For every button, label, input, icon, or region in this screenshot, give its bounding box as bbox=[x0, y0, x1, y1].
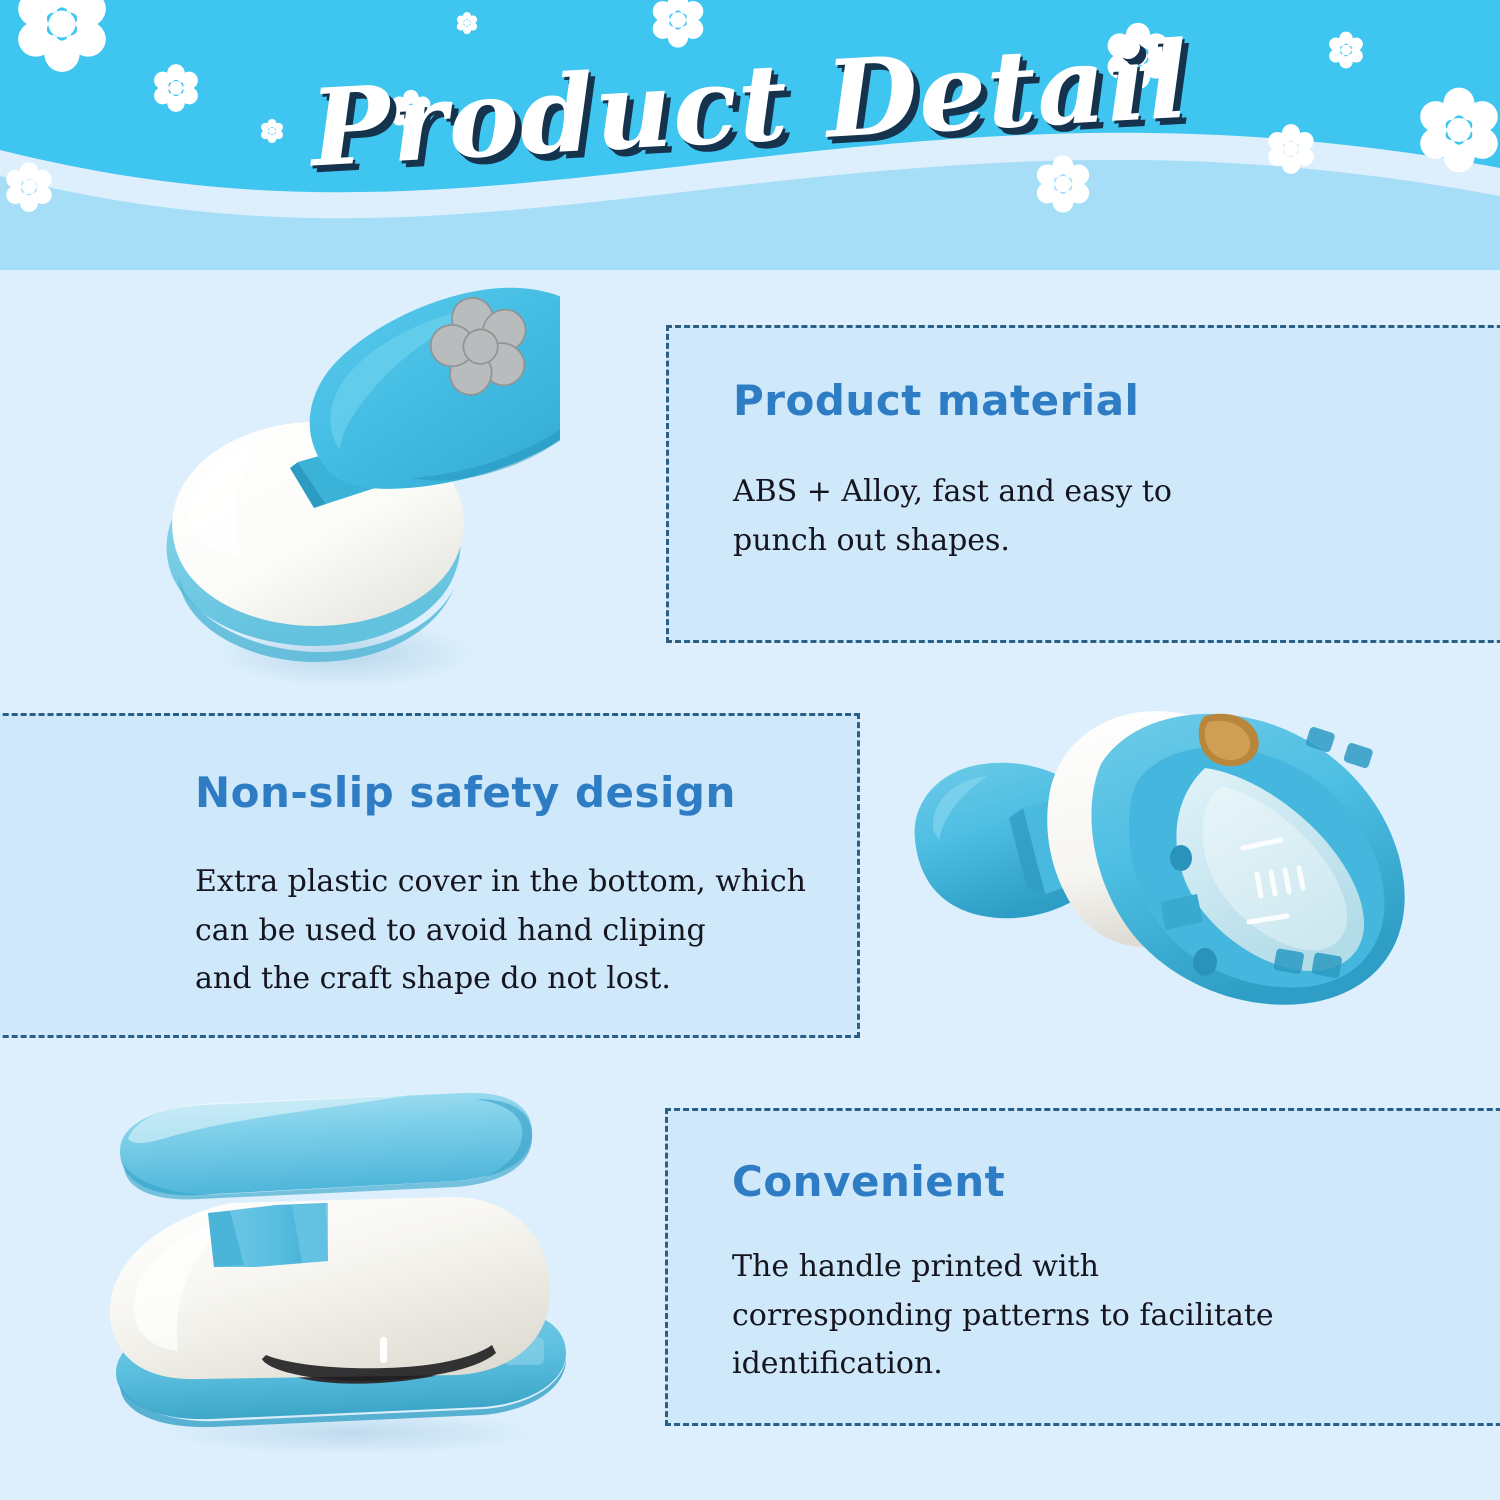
info-box-body: The handle printed with corresponding pa… bbox=[732, 1243, 1312, 1389]
info-box-convenient: Convenient The handle printed with corre… bbox=[665, 1108, 1500, 1426]
info-box-non-slip-safety-design: Non-slip safety design Extra plastic cov… bbox=[0, 713, 860, 1038]
info-box-product-material: Product material ABS + Alloy, fast and e… bbox=[666, 325, 1500, 643]
infographic-page: Product Detail bbox=[0, 0, 1500, 1500]
info-box-body: Extra plastic cover in the bottom, which… bbox=[195, 858, 815, 1004]
info-box-heading: Convenient bbox=[732, 1157, 1005, 1206]
product-photo-punch-side bbox=[80, 1055, 620, 1455]
product-photo-punch-underside bbox=[905, 690, 1425, 1020]
info-box-heading: Product material bbox=[733, 376, 1139, 425]
info-box-body: ABS + Alloy, fast and easy to punch out … bbox=[733, 468, 1293, 565]
product-photo-punch-angled-top bbox=[130, 222, 560, 702]
info-box-heading: Non-slip safety design bbox=[195, 768, 736, 817]
